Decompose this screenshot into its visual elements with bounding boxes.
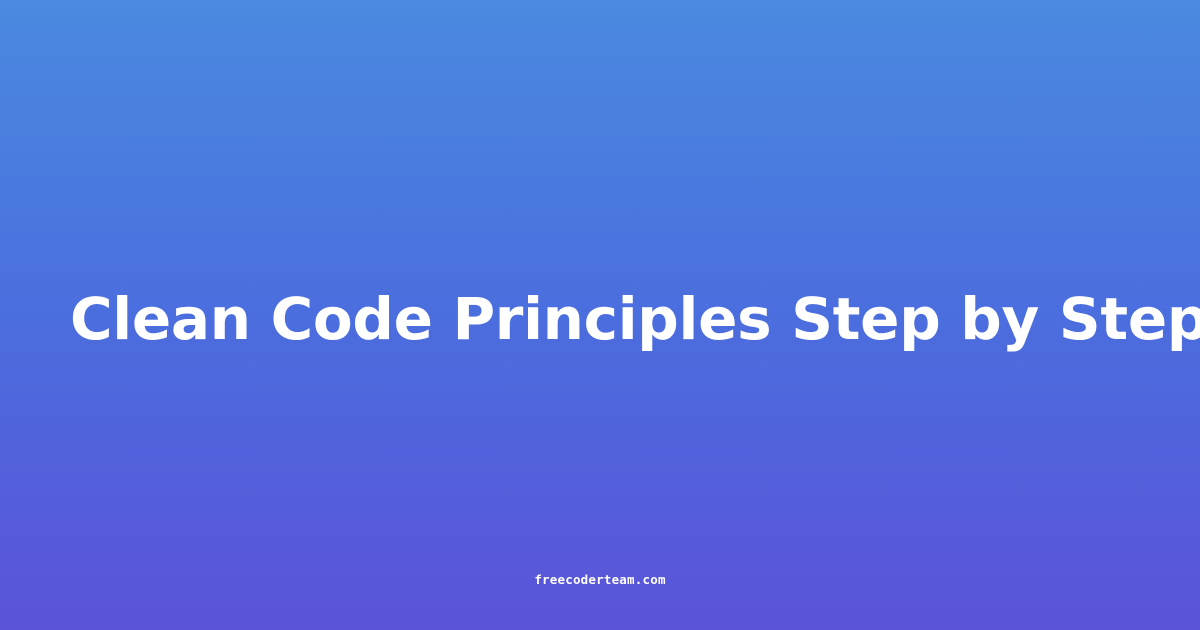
social-share-card: Clean Code Principles Step by Step freec…: [0, 0, 1200, 630]
page-title: Clean Code Principles Step by Step: [0, 283, 1200, 355]
card-footer: freecoderteam.com: [0, 569, 1200, 588]
site-domain-label: freecoderteam.com: [534, 572, 665, 588]
